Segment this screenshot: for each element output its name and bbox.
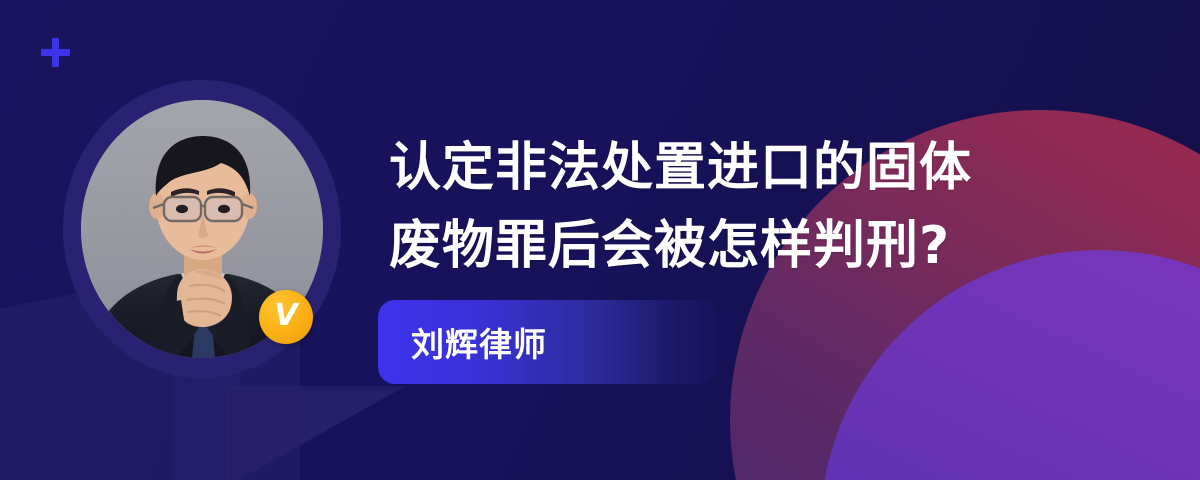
lawyer-question-banner: V 认定非法处置进口的固体 废物罪后会被怎样判刑? 刘辉律师 [0,0,1200,480]
decorative-triangle-front [228,390,398,480]
lawyer-name-badge[interactable]: 刘辉律师 [378,300,718,384]
verified-badge-label: V [274,301,297,331]
page-title: 认定非法处置进口的固体 废物罪后会被怎样判刑? [389,129,1079,285]
plus-icon [41,38,70,67]
avatar: V [63,80,341,378]
lawyer-name-label: 刘辉律师 [411,318,547,366]
verified-badge: V [259,290,313,344]
